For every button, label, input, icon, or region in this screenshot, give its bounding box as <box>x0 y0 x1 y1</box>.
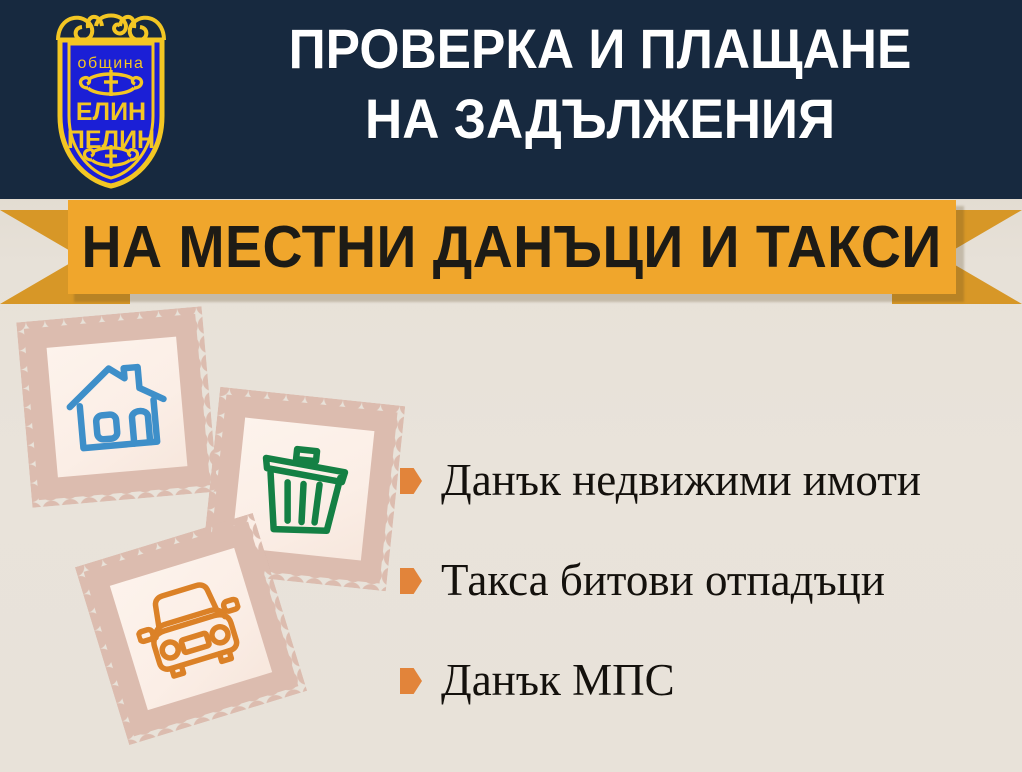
ribbon-label: НА МЕСТНИ ДАНЪЦИ И ТАКСИ <box>82 217 942 277</box>
ribbon-main: НА МЕСТНИ ДАНЪЦИ И ТАКСИ <box>68 200 956 294</box>
bullet-arrow-icon <box>400 568 422 594</box>
crest-svg: община ЕЛИН ПЕЛИН <box>36 6 186 192</box>
house-icon <box>61 353 173 462</box>
bullet-arrow-icon <box>400 468 422 494</box>
poster-canvas: община ЕЛИН ПЕЛИН ПРОВЕРКА И ПЛАЩАНЕ Н <box>0 0 1022 772</box>
list-item-label: Данък недвижими имоти <box>441 455 921 505</box>
svg-text:ЕЛИН: ЕЛИН <box>76 98 146 126</box>
ribbon-banner: НА МЕСТНИ ДАНЪЦИ И ТАКСИ <box>0 196 1022 306</box>
list-item-label: Такса битови отпадъци <box>441 555 885 605</box>
stamp-house <box>16 306 218 508</box>
list-item-label: Данък МПС <box>441 655 675 705</box>
list-item[interactable]: Такса битови отпадъци <box>400 530 1010 630</box>
tax-type-list: Данък недвижими имоти Такса битови отпад… <box>400 430 1010 730</box>
coat-of-arms-elin-pelin: община ЕЛИН ПЕЛИН <box>36 6 186 192</box>
svg-text:община: община <box>78 55 145 72</box>
list-item[interactable]: Данък недвижими имоти <box>400 430 1010 530</box>
car-icon <box>126 569 256 689</box>
trash-bin-icon <box>250 433 356 544</box>
stamp-inner <box>47 337 188 478</box>
page-title: ПРОВЕРКА И ПЛАЩАНЕ НА ЗАДЪЛЖЕНИЯ <box>218 14 982 154</box>
bullet-arrow-icon <box>400 668 422 694</box>
list-item[interactable]: Данък МПС <box>400 630 1010 730</box>
